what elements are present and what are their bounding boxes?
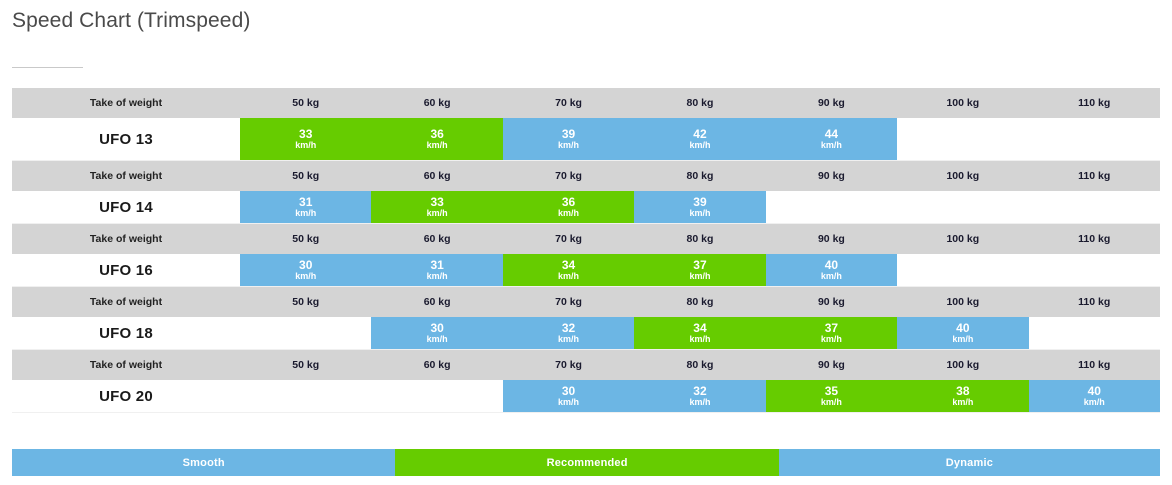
weight-column-header: 70 kg — [503, 287, 634, 317]
take-of-weight-label: Take of weight — [12, 161, 240, 191]
speed-cell-green: 36km/h — [371, 118, 502, 160]
speed-value: 30 — [430, 322, 443, 335]
weight-column-header: 90 kg — [766, 88, 897, 118]
speed-value: 44 — [825, 128, 838, 141]
speed-value: 40 — [825, 259, 838, 272]
weight-header-row: Take of weight50 kg60 kg70 kg80 kg90 kg1… — [12, 224, 1160, 254]
speed-unit: km/h — [295, 272, 316, 282]
speed-cell-empty — [897, 118, 1028, 160]
speed-unit: km/h — [427, 335, 448, 345]
speed-cell-empty — [1029, 191, 1160, 223]
weight-column-header: 90 kg — [766, 287, 897, 317]
legend-label: Smooth — [183, 457, 225, 469]
speed-cell-blue: 40km/h — [897, 317, 1028, 349]
speed-unit: km/h — [427, 141, 448, 151]
weight-column-header: 90 kg — [766, 224, 897, 254]
speed-cell-empty — [240, 380, 371, 412]
weight-header-row: Take of weight50 kg60 kg70 kg80 kg90 kg1… — [12, 287, 1160, 317]
take-of-weight-label: Take of weight — [12, 287, 240, 317]
weight-column-header: 50 kg — [240, 350, 371, 380]
legend-segment: Smooth — [12, 449, 395, 476]
chart-legend: SmoothRecommendedDynamic — [12, 449, 1160, 476]
model-name: UFO 16 — [12, 254, 240, 286]
weight-column-header: 70 kg — [503, 224, 634, 254]
speed-value: 34 — [562, 259, 575, 272]
model-name: UFO 20 — [12, 380, 240, 412]
speed-value: 32 — [693, 385, 706, 398]
weight-column-header: 50 kg — [240, 161, 371, 191]
weight-column-header: 110 kg — [1029, 88, 1160, 118]
weight-column-header: 90 kg — [766, 161, 897, 191]
speed-cell-blue: 32km/h — [634, 380, 765, 412]
weight-column-header: 50 kg — [240, 88, 371, 118]
speed-value: 31 — [299, 196, 312, 209]
speed-unit: km/h — [427, 209, 448, 219]
speed-unit: km/h — [427, 272, 448, 282]
speed-cell-green: 37km/h — [634, 254, 765, 286]
weight-column-header: 80 kg — [634, 287, 765, 317]
weight-columns: 50 kg60 kg70 kg80 kg90 kg100 kg110 kg — [240, 287, 1160, 317]
model-row: UFO 1630km/h31km/h34km/h37km/h40km/h — [12, 254, 1160, 287]
weight-column-header: 80 kg — [634, 350, 765, 380]
speed-unit: km/h — [689, 272, 710, 282]
speed-cell-empty — [1029, 317, 1160, 349]
speed-unit: km/h — [558, 209, 579, 219]
speed-unit: km/h — [295, 209, 316, 219]
speed-value: 39 — [693, 196, 706, 209]
speed-value: 32 — [562, 322, 575, 335]
speed-unit: km/h — [689, 141, 710, 151]
speed-bars: 30km/h31km/h34km/h37km/h40km/h — [240, 254, 1160, 286]
weight-column-header: 100 kg — [897, 350, 1028, 380]
speed-cell-green: 33km/h — [371, 191, 502, 223]
speed-cell-blue: 30km/h — [503, 380, 634, 412]
weight-column-header: 70 kg — [503, 161, 634, 191]
speed-cell-empty — [766, 191, 897, 223]
speed-bars: 31km/h33km/h36km/h39km/h — [240, 191, 1160, 223]
speed-cell-green: 35km/h — [766, 380, 897, 412]
weight-column-header: 80 kg — [634, 224, 765, 254]
speed-cell-blue: 30km/h — [240, 254, 371, 286]
model-row: UFO 1431km/h33km/h36km/h39km/h — [12, 191, 1160, 224]
weight-column-header: 100 kg — [897, 88, 1028, 118]
weight-column-header: 100 kg — [897, 161, 1028, 191]
speed-value: 33 — [299, 128, 312, 141]
model-row: UFO 1830km/h32km/h34km/h37km/h40km/h — [12, 317, 1160, 350]
speed-cell-empty — [897, 254, 1028, 286]
weight-column-header: 100 kg — [897, 224, 1028, 254]
speed-unit: km/h — [821, 398, 842, 408]
speed-unit: km/h — [821, 335, 842, 345]
speed-value: 30 — [562, 385, 575, 398]
legend-segment: Recommended — [395, 449, 778, 476]
weight-column-header: 50 kg — [240, 224, 371, 254]
weight-columns: 50 kg60 kg70 kg80 kg90 kg100 kg110 kg — [240, 350, 1160, 380]
weight-column-header: 60 kg — [371, 161, 502, 191]
speed-value: 37 — [825, 322, 838, 335]
speed-cell-green: 38km/h — [897, 380, 1028, 412]
legend-segment: Dynamic — [779, 449, 1160, 476]
weight-column-header: 110 kg — [1029, 161, 1160, 191]
speed-unit: km/h — [558, 141, 579, 151]
weight-column-header: 70 kg — [503, 350, 634, 380]
speed-cell-green: 34km/h — [503, 254, 634, 286]
speed-cell-empty — [371, 380, 502, 412]
weight-header-row: Take of weight50 kg60 kg70 kg80 kg90 kg1… — [12, 161, 1160, 191]
speed-cell-blue: 32km/h — [503, 317, 634, 349]
speed-value: 40 — [1088, 385, 1101, 398]
weight-column-header: 110 kg — [1029, 224, 1160, 254]
weight-columns: 50 kg60 kg70 kg80 kg90 kg100 kg110 kg — [240, 88, 1160, 118]
speed-cell-green: 36km/h — [503, 191, 634, 223]
weight-column-header: 60 kg — [371, 88, 502, 118]
speed-cell-empty — [240, 317, 371, 349]
speed-cell-green: 33km/h — [240, 118, 371, 160]
speed-value: 39 — [562, 128, 575, 141]
model-name: UFO 13 — [12, 118, 240, 160]
speed-cell-blue: 39km/h — [503, 118, 634, 160]
legend-label: Recommended — [547, 457, 628, 469]
model-row: UFO 2030km/h32km/h35km/h38km/h40km/h — [12, 380, 1160, 413]
speed-unit: km/h — [689, 335, 710, 345]
take-of-weight-label: Take of weight — [12, 224, 240, 254]
speed-cell-green: 34km/h — [634, 317, 765, 349]
speed-cell-blue: 39km/h — [634, 191, 765, 223]
speed-unit: km/h — [689, 209, 710, 219]
weight-column-header: 60 kg — [371, 350, 502, 380]
speed-unit: km/h — [1084, 398, 1105, 408]
speed-value: 35 — [825, 385, 838, 398]
speed-chart-page: Speed Chart (Trimspeed) Take of weight50… — [0, 0, 1172, 485]
take-of-weight-label: Take of weight — [12, 88, 240, 118]
speed-cell-empty — [1029, 118, 1160, 160]
speed-cell-blue: 31km/h — [371, 254, 502, 286]
weight-columns: 50 kg60 kg70 kg80 kg90 kg100 kg110 kg — [240, 161, 1160, 191]
speed-cell-green: 37km/h — [766, 317, 897, 349]
speed-value: 37 — [693, 259, 706, 272]
weight-column-header: 100 kg — [897, 287, 1028, 317]
speed-cell-blue: 40km/h — [1029, 380, 1160, 412]
weight-column-header: 80 kg — [634, 88, 765, 118]
speed-unit: km/h — [689, 398, 710, 408]
speed-unit: km/h — [295, 141, 316, 151]
speed-value: 36 — [430, 128, 443, 141]
speed-cell-empty — [897, 191, 1028, 223]
model-name: UFO 18 — [12, 317, 240, 349]
speed-cell-blue: 40km/h — [766, 254, 897, 286]
legend-label: Dynamic — [946, 457, 993, 469]
speed-unit: km/h — [558, 272, 579, 282]
weight-column-header: 50 kg — [240, 287, 371, 317]
speed-unit: km/h — [821, 272, 842, 282]
speed-unit: km/h — [558, 398, 579, 408]
speed-cell-empty — [1029, 254, 1160, 286]
speed-bars: 30km/h32km/h34km/h37km/h40km/h — [240, 317, 1160, 349]
weight-column-header: 110 kg — [1029, 287, 1160, 317]
weight-column-header: 70 kg — [503, 88, 634, 118]
speed-unit: km/h — [821, 141, 842, 151]
speed-value: 38 — [956, 385, 969, 398]
speed-cell-blue: 30km/h — [371, 317, 502, 349]
weight-columns: 50 kg60 kg70 kg80 kg90 kg100 kg110 kg — [240, 224, 1160, 254]
weight-column-header: 60 kg — [371, 224, 502, 254]
weight-column-header: 110 kg — [1029, 350, 1160, 380]
speed-bars: 30km/h32km/h35km/h38km/h40km/h — [240, 380, 1160, 412]
speed-cell-blue: 42km/h — [634, 118, 765, 160]
speed-value: 36 — [562, 196, 575, 209]
speed-value: 34 — [693, 322, 706, 335]
speed-value: 40 — [956, 322, 969, 335]
title-divider — [12, 67, 83, 68]
speed-cell-blue: 44km/h — [766, 118, 897, 160]
page-title: Speed Chart (Trimspeed) — [12, 9, 250, 33]
speed-bars: 33km/h36km/h39km/h42km/h44km/h — [240, 118, 1160, 160]
model-name: UFO 14 — [12, 191, 240, 223]
weight-column-header: 80 kg — [634, 161, 765, 191]
weight-column-header: 90 kg — [766, 350, 897, 380]
speed-unit: km/h — [952, 335, 973, 345]
speed-value: 31 — [430, 259, 443, 272]
speed-value: 42 — [693, 128, 706, 141]
speed-value: 33 — [430, 196, 443, 209]
speed-cell-blue: 31km/h — [240, 191, 371, 223]
speed-unit: km/h — [558, 335, 579, 345]
weight-header-row: Take of weight50 kg60 kg70 kg80 kg90 kg1… — [12, 350, 1160, 380]
speed-chart-table: Take of weight50 kg60 kg70 kg80 kg90 kg1… — [12, 88, 1160, 413]
speed-value: 30 — [299, 259, 312, 272]
take-of-weight-label: Take of weight — [12, 350, 240, 380]
weight-header-row: Take of weight50 kg60 kg70 kg80 kg90 kg1… — [12, 88, 1160, 118]
weight-column-header: 60 kg — [371, 287, 502, 317]
model-row: UFO 1333km/h36km/h39km/h42km/h44km/h — [12, 118, 1160, 161]
speed-unit: km/h — [952, 398, 973, 408]
